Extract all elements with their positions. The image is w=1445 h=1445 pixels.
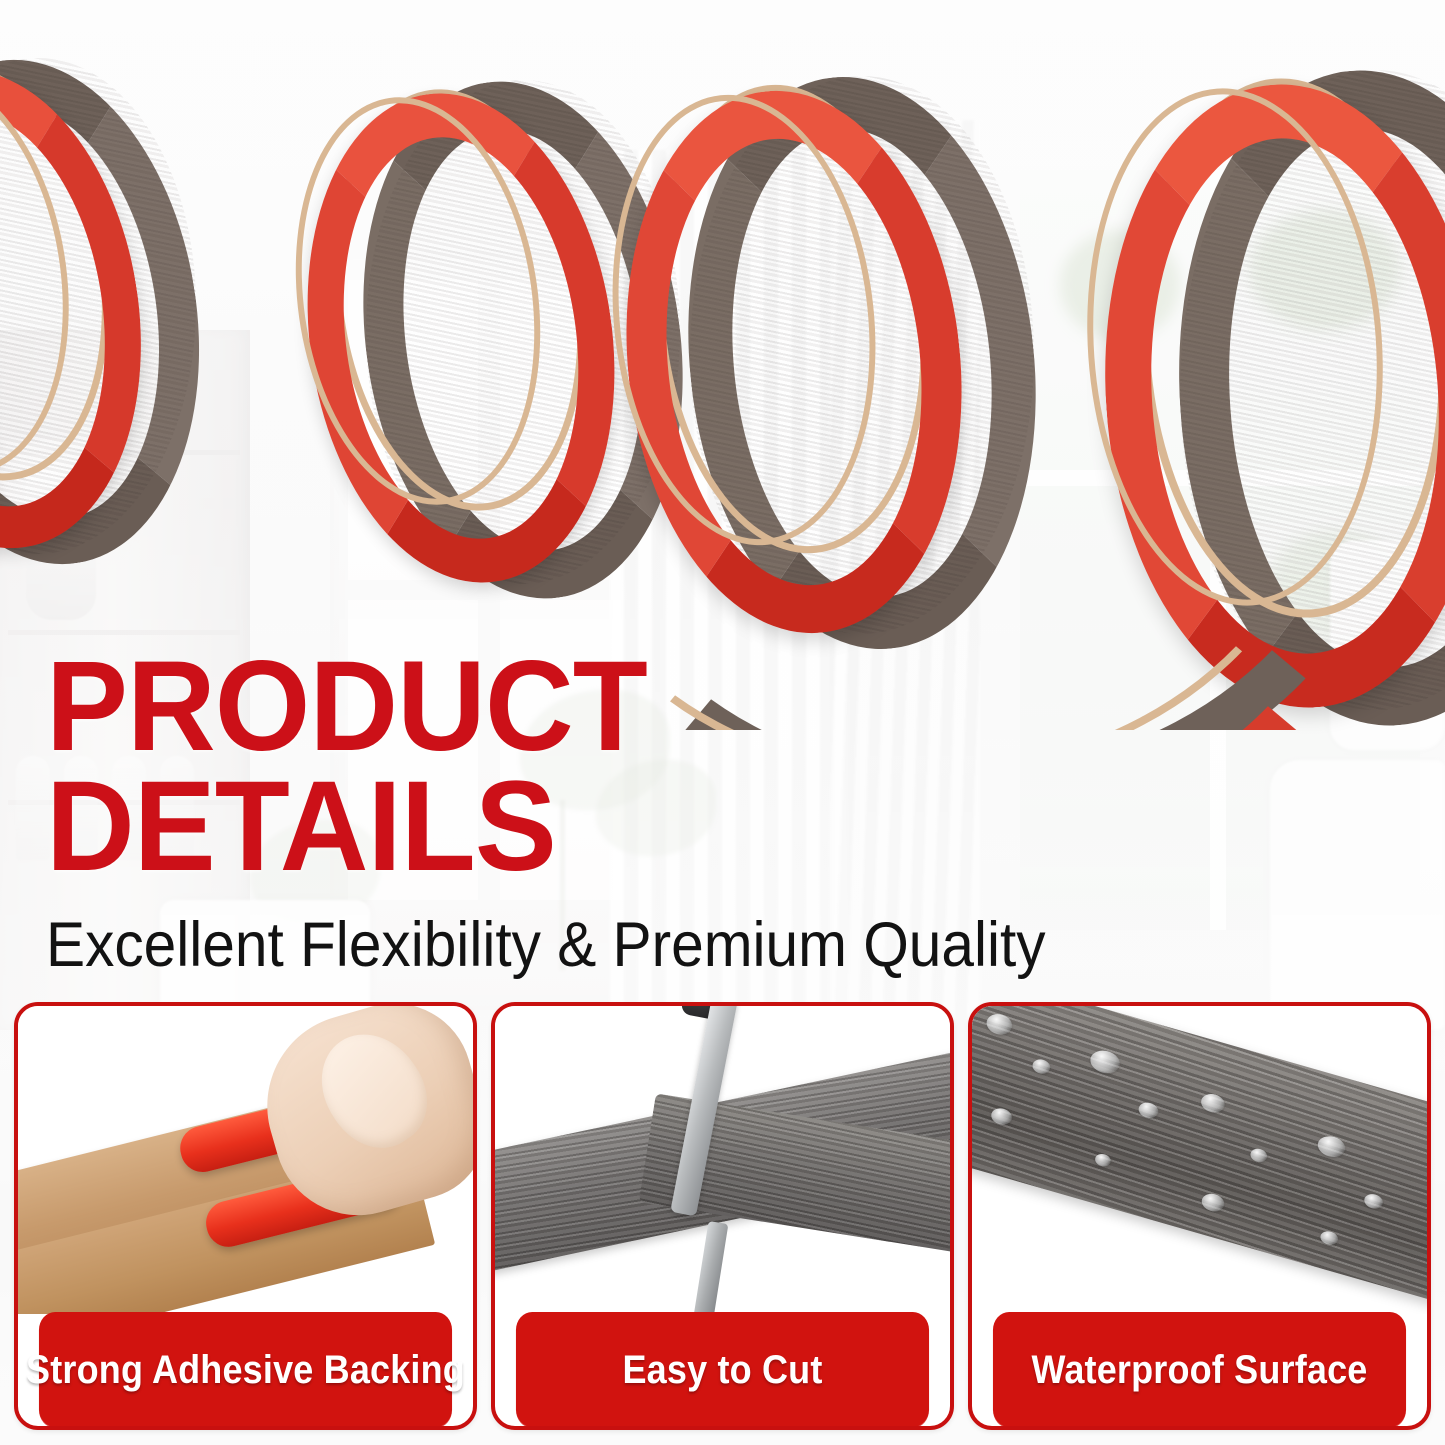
card-caption-cut: Easy to Cut [516,1312,929,1428]
caption-wrap: Waterproof Surface [972,1314,1427,1426]
woodgrain-texture [972,1006,1427,1314]
waterproof-surface-image [972,1006,1427,1314]
feature-card-waterproof[interactable]: Waterproof Surface [968,1002,1431,1430]
page-subtitle: Excellent Flexibility & Premium Quality [46,912,976,978]
woodgrain-plank [972,1006,1427,1314]
feature-card-cut[interactable]: Easy to Cut [491,1002,954,1430]
hero-tape-coils [0,40,1445,700]
tape-coil-1 [0,58,150,488]
page-title-line-1: PRODUCT [46,648,1006,766]
scissors-blade-lower [694,1221,729,1314]
product-details-infographic: PRODUCT DETAILS Excellent Flexibility & … [0,0,1445,1445]
page-title-line-2: DETAILS [46,768,1006,886]
caption-wrap: Easy to Cut [495,1314,950,1426]
headline-block: PRODUCT DETAILS Excellent Flexibility & … [46,648,1046,978]
feature-card-row: Strong Adhesive Backing Easy to Cut [14,1002,1431,1430]
tape-coil-2 [270,80,600,540]
caption-wrap: Strong Adhesive Backing [18,1314,473,1426]
adhesive-backing-image [18,1006,473,1314]
fingernail [301,1015,447,1167]
easy-to-cut-image [495,1006,950,1314]
card-caption-waterproof: Waterproof Surface [993,1312,1406,1428]
card-caption-adhesive: Strong Adhesive Backing [39,1312,452,1428]
feature-card-adhesive[interactable]: Strong Adhesive Backing [14,1002,477,1430]
